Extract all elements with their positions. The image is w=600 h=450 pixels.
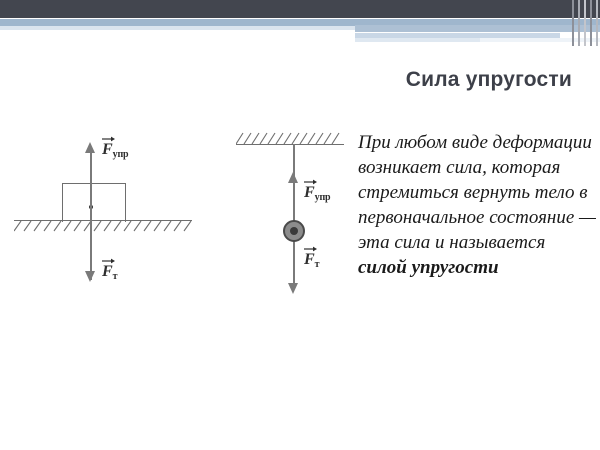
definition-paragraph-bold-term: силой упругости bbox=[358, 257, 499, 278]
header-right-accent-band bbox=[355, 25, 600, 32]
block-shape bbox=[62, 183, 126, 222]
gravity-force-arrow-down-icon bbox=[288, 283, 298, 294]
header-stripe-3 bbox=[584, 0, 586, 46]
gravity-force-arrow-down-icon bbox=[85, 271, 95, 282]
force-axis-line bbox=[90, 148, 92, 280]
elastic-force-subscript: упр bbox=[315, 193, 331, 203]
ceiling-line bbox=[236, 144, 344, 145]
elastic-force-label: Fупр bbox=[304, 185, 330, 203]
gravity-force-symbol: F bbox=[102, 263, 113, 280]
block-on-surface-force-diagram: Fупр Fт bbox=[8, 138, 198, 303]
elastic-force-symbol: F bbox=[102, 141, 113, 158]
elastic-force-arrow-up-icon bbox=[85, 142, 95, 153]
definition-paragraph: При любом виде деформации возникает сила… bbox=[358, 130, 596, 280]
header-dark-band bbox=[0, 0, 600, 18]
ground-hatching-icon bbox=[14, 221, 192, 232]
elastic-force-arrow-up-icon bbox=[288, 172, 298, 183]
vector-arrow-icon bbox=[304, 245, 317, 252]
elastic-force-subscript: упр bbox=[113, 150, 129, 160]
suspension-line bbox=[293, 144, 295, 289]
header-stripe-4 bbox=[590, 0, 592, 46]
suspended-weight-core bbox=[290, 227, 298, 235]
header-stripe-5 bbox=[596, 0, 598, 46]
hanging-mass-force-diagram: Fупр Fт bbox=[232, 128, 357, 303]
gravity-force-symbol: F bbox=[304, 251, 315, 268]
header-decoration bbox=[0, 0, 600, 56]
gravity-force-subscript: т bbox=[315, 260, 320, 270]
header-stripe-2 bbox=[578, 0, 580, 46]
vector-arrow-icon bbox=[102, 135, 115, 142]
ceiling-hatching-icon bbox=[236, 132, 344, 144]
gravity-force-label: Fт bbox=[102, 264, 117, 282]
slide-title: Сила упругости bbox=[406, 68, 572, 92]
gravity-force-label: Fт bbox=[304, 252, 319, 270]
header-stripe-1 bbox=[572, 0, 574, 46]
elastic-force-label: Fупр bbox=[102, 142, 128, 160]
vector-arrow-icon bbox=[304, 178, 317, 185]
elastic-force-symbol: F bbox=[304, 184, 315, 201]
definition-paragraph-plain: При любом виде деформации возникает сила… bbox=[358, 132, 596, 253]
vector-arrow-icon bbox=[102, 257, 115, 264]
gravity-force-subscript: т bbox=[113, 272, 118, 282]
header-right-faintest-band bbox=[480, 38, 600, 42]
